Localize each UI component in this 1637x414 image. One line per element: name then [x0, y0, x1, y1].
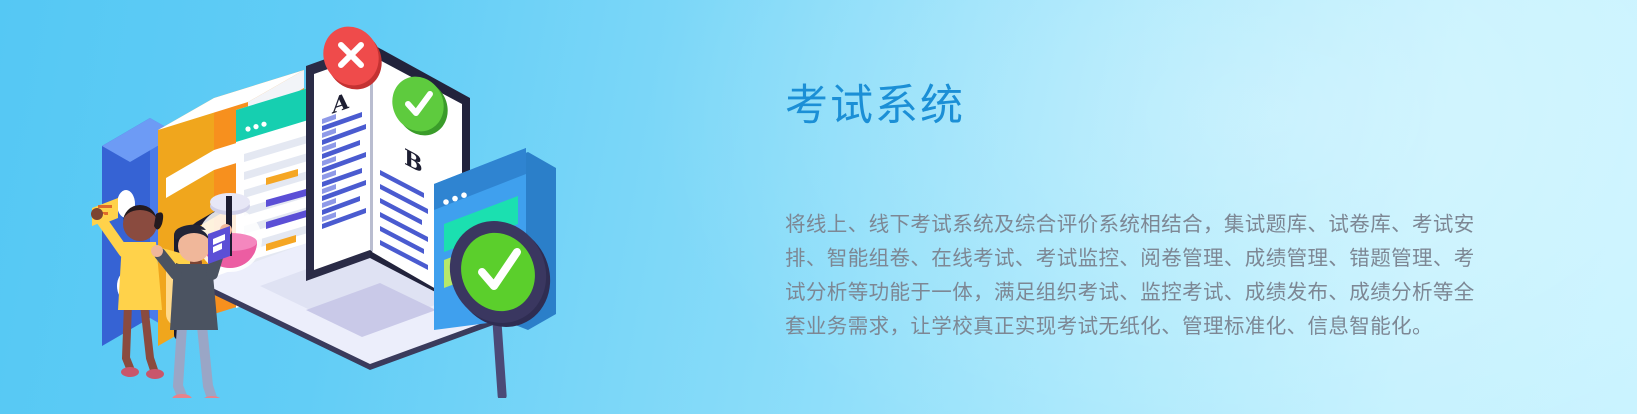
banner-description: 将线上、线下考试系统及综合评价系统相结合，集试题库、试卷库、考试安排、智能组卷、… [785, 207, 1485, 343]
page-title: 考试系统 [785, 82, 1505, 131]
hero-banner: A B [0, 0, 1637, 414]
illustration-svg: A B [70, 18, 630, 398]
exam-system-illustration: A B [70, 18, 630, 398]
banner-text-block: 考试系统 将线上、线下考试系统及综合评价系统相结合，集试题库、试卷库、考试安排、… [785, 82, 1505, 343]
